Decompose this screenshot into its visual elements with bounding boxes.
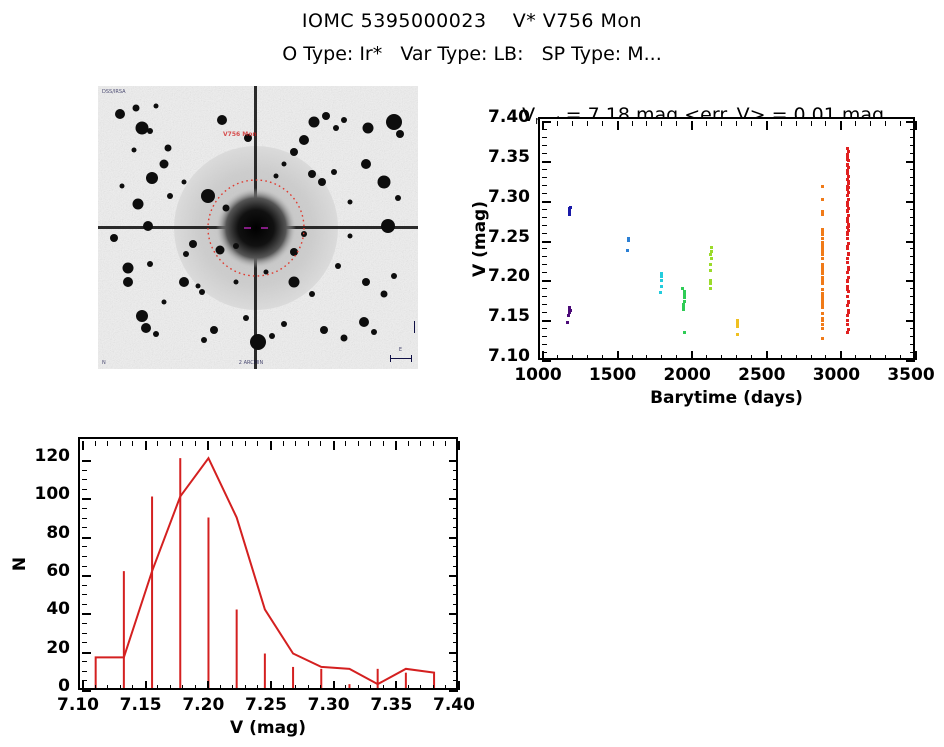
y-minor-tick-right [910,169,915,170]
x-minor-tick-top [308,441,309,446]
y-minor-tick-right [910,336,915,337]
data-point [709,263,712,266]
x-major-tick [333,681,335,690]
finder-chart: DSS/IRSA V756 Mon N 2 ARCMIN E [98,86,418,369]
x-minor-tick [157,685,158,690]
y-minor-tick [82,585,87,586]
finder-survey-label: DSS/IRSA [102,89,126,95]
x-tick-label: 1000 [514,365,561,385]
y-minor-tick [82,633,87,634]
data-point [567,314,570,317]
x-minor-tick [781,355,782,360]
x-minor-tick [557,355,558,360]
x-minor-tick [661,355,662,360]
y-major-tick [82,460,91,462]
x-minor-tick [751,355,752,360]
y-minor-tick-right [453,604,458,605]
x-minor-tick [195,685,196,690]
data-point [709,269,712,272]
x-major-tick [270,681,272,690]
x-minor-tick-top [95,441,96,446]
data-point [847,311,850,314]
data-point [846,319,849,322]
y-minor-tick-right [910,304,915,305]
y-minor-tick [542,153,547,154]
y-minor-tick [82,470,87,471]
histogram-y-axis-label: N [10,556,30,570]
y-minor-tick-right [453,470,458,471]
data-point [736,319,739,322]
x-tick-label: 7.30 [308,695,350,715]
data-point [846,304,849,307]
finder-star-label: V756 Mon [223,131,257,138]
y-minor-tick [542,193,547,194]
x-minor-tick-top [157,441,158,446]
data-point [846,331,849,334]
x-major-tick [458,681,460,690]
y-minor-tick [542,169,547,170]
data-point [710,250,713,253]
data-point [569,206,572,209]
x-tick-label: 7.15 [120,695,162,715]
x-minor-tick-top [107,441,108,446]
figure-page: IOMC 5395000023 V* V756 Mon O Type: Ir* … [0,0,944,747]
y-major-tick-right [449,460,458,462]
y-major-tick [82,575,91,577]
y-minor-tick-right [910,137,915,138]
y-minor-tick-right [453,527,458,528]
x-minor-tick [170,685,171,690]
y-minor-tick [82,489,87,490]
x-tick-label: 7.10 [57,695,99,715]
x-minor-tick-top [885,121,886,126]
data-point [659,291,662,294]
y-major-tick-right [906,241,915,243]
data-point [847,186,850,189]
finder-east-label: E [399,347,402,353]
x-minor-tick-top [602,121,603,126]
x-minor-tick [320,685,321,690]
y-minor-tick-right [910,129,915,130]
y-minor-tick-right [453,585,458,586]
data-point [709,279,712,282]
y-minor-tick-right [910,217,915,218]
y-minor-tick [542,344,547,345]
x-minor-tick [370,685,371,690]
y-major-tick-right [906,360,915,362]
y-major-tick-right [449,690,458,692]
y-major-tick-right [906,121,915,123]
y-minor-tick [82,518,87,519]
x-minor-tick-top [870,121,871,126]
x-minor-tick [825,355,826,360]
data-point [846,209,849,212]
x-minor-tick-top [420,441,421,446]
y-major-tick [542,280,551,282]
x-minor-tick [646,355,647,360]
lightcurve-plot [538,117,915,360]
data-point [846,231,849,234]
data-point [847,214,850,217]
y-minor-tick [542,185,547,186]
data-point [846,164,849,167]
y-minor-tick-right [453,633,458,634]
x-minor-tick-top [370,441,371,446]
x-minor-tick-top [345,441,346,446]
data-point [736,333,739,336]
x-minor-tick-top [811,121,812,126]
y-tick-label: 40 [46,599,70,619]
x-major-tick [207,681,209,690]
y-minor-tick-right [453,642,458,643]
y-major-tick [542,360,551,362]
y-minor-tick [82,527,87,528]
x-minor-tick [408,685,409,690]
data-point [821,279,824,282]
data-point [847,253,850,256]
y-minor-tick [82,680,87,681]
y-major-tick-right [449,652,458,654]
data-point [846,194,849,197]
x-tick-label: 7.35 [370,695,412,715]
data-point [683,300,686,303]
data-point [821,266,824,269]
y-major-tick [542,320,551,322]
histogram-x-axis-label: V (mag) [230,718,306,738]
y-minor-tick-right [453,680,458,681]
y-minor-tick-right [910,272,915,273]
x-minor-tick-top [721,121,722,126]
data-point [846,288,849,291]
data-point [846,257,849,260]
y-minor-tick [82,604,87,605]
y-minor-tick-right [453,546,458,547]
y-tick-label: 120 [35,446,71,466]
data-point [846,323,849,326]
data-point [821,185,824,188]
data-point [847,225,850,228]
x-minor-tick-top [383,441,384,446]
y-minor-tick [542,304,547,305]
y-major-tick-right [906,201,915,203]
finder-scalebar [390,358,412,359]
x-minor-tick [736,355,737,360]
data-point [846,172,849,175]
data-point [709,287,712,290]
data-point [847,198,850,201]
y-minor-tick-right [453,518,458,519]
y-tick-label: 7.30 [488,187,530,207]
x-minor-tick-top [232,441,233,446]
y-minor-tick-right [453,594,458,595]
data-point [821,327,824,330]
y-minor-tick [542,288,547,289]
finder-north-label: N [102,360,106,366]
data-point [821,257,824,260]
data-point [846,220,849,223]
y-major-tick-right [449,498,458,500]
data-point [847,191,850,194]
y-minor-tick-right [453,661,458,662]
data-point [821,337,824,340]
x-minor-tick-top [661,121,662,126]
y-minor-tick-right [910,248,915,249]
y-tick-label: 0 [58,676,70,696]
y-minor-tick-right [453,489,458,490]
x-major-tick-top [617,121,619,130]
figure-header: IOMC 5395000023 V* V756 Mon O Type: Ir* … [0,10,944,65]
data-point [660,285,663,288]
data-point [736,325,739,328]
y-tick-label: 100 [35,484,71,504]
data-point [847,175,850,178]
data-point [821,272,824,275]
y-major-tick [82,690,91,692]
data-point [683,290,686,293]
x-minor-tick-top [408,441,409,446]
y-minor-tick [82,546,87,547]
y-minor-tick [542,233,547,234]
x-minor-tick-top [796,121,797,126]
x-minor-tick-top [646,121,647,126]
x-major-tick [617,351,619,360]
y-minor-tick [542,225,547,226]
x-minor-tick [445,685,446,690]
data-point [846,271,849,274]
x-tick-label: 2500 [738,365,785,385]
y-minor-tick-right [910,153,915,154]
histogram-bars [80,439,456,688]
x-tick-label: 7.40 [433,695,475,715]
data-point [627,237,630,240]
y-tick-label: 7.10 [488,346,530,366]
x-minor-tick [245,685,246,690]
y-minor-tick [82,642,87,643]
x-minor-tick [132,685,133,690]
y-major-tick [82,537,91,539]
data-point [821,241,824,244]
x-tick-label: 7.20 [182,695,224,715]
y-minor-tick [82,623,87,624]
data-point [846,237,849,240]
data-point [821,323,824,326]
y-minor-tick-right [453,623,458,624]
x-minor-tick [632,355,633,360]
x-major-tick-top [82,441,84,450]
y-minor-tick [542,129,547,130]
data-point [660,272,663,275]
x-major-tick [840,351,842,360]
y-minor-tick [542,264,547,265]
data-point [683,296,686,299]
x-minor-tick-top [283,441,284,446]
y-minor-tick-right [910,233,915,234]
y-minor-tick [82,661,87,662]
x-minor-tick [107,685,108,690]
x-tick-label: 1500 [589,365,636,385]
data-point [846,153,849,156]
x-major-tick-top [840,121,842,130]
x-minor-tick-top [195,441,196,446]
x-minor-tick-top [320,441,321,446]
finder-north-tick [414,321,415,333]
y-minor-tick [82,671,87,672]
x-major-tick-top [395,441,397,450]
data-point [846,158,849,161]
x-major-tick [82,681,84,690]
data-point [846,217,849,220]
y-minor-tick [82,479,87,480]
data-point [846,202,849,205]
y-major-tick-right [906,161,915,163]
x-major-tick-top [458,441,460,450]
data-point [847,268,850,271]
y-minor-tick-right [910,145,915,146]
x-minor-tick [257,685,258,690]
y-minor-tick-right [910,185,915,186]
data-point [846,169,849,172]
x-minor-tick-top [295,441,296,446]
x-tick-label: 7.25 [245,695,287,715]
y-major-tick [542,121,551,123]
y-major-tick [542,161,551,163]
x-minor-tick [676,355,677,360]
y-tick-label: 7.15 [488,306,530,326]
data-point [709,253,712,256]
data-point [710,257,713,260]
y-minor-tick [542,336,547,337]
x-major-tick [766,351,768,360]
x-minor-tick-top [572,121,573,126]
x-major-tick-top [691,121,693,130]
y-major-tick [542,241,551,243]
data-point [566,321,569,324]
y-minor-tick-right [453,671,458,672]
y-major-tick-right [906,320,915,322]
x-minor-tick-top [751,121,752,126]
x-minor-tick-top [781,121,782,126]
y-minor-tick-right [910,256,915,257]
x-minor-tick-top [245,441,246,446]
lightcurve-x-axis-label: Barytime (days) [650,388,803,408]
y-major-tick [82,613,91,615]
data-point [821,210,824,213]
x-major-tick-top [207,441,209,450]
data-point [846,245,849,248]
data-point [821,304,824,307]
x-minor-tick [295,685,296,690]
x-major-tick-top [766,121,768,130]
x-minor-tick-top [182,441,183,446]
data-point [682,303,685,306]
data-point [683,331,686,334]
y-tick-label: 7.25 [488,227,530,247]
x-major-tick-top [270,441,272,450]
x-minor-tick-top [132,441,133,446]
y-minor-tick-right [910,352,915,353]
data-point [821,317,824,320]
x-minor-tick [721,355,722,360]
x-major-tick-top [915,121,917,130]
y-minor-tick [542,137,547,138]
y-minor-tick-right [910,344,915,345]
x-major-tick-top [145,441,147,450]
y-minor-tick [82,508,87,509]
x-minor-tick [95,685,96,690]
x-minor-tick-top [433,441,434,446]
data-point [821,292,824,295]
x-minor-tick-top [825,121,826,126]
y-minor-tick-right [453,556,458,557]
y-minor-tick [542,145,547,146]
x-tick-label: 2000 [664,365,711,385]
x-minor-tick [358,685,359,690]
finder-sky-image [98,86,418,369]
x-major-tick [395,681,397,690]
x-minor-tick [855,355,856,360]
finder-scale-label: 2 ARCMIN [239,360,263,366]
y-minor-tick-right [453,508,458,509]
x-minor-tick [572,355,573,360]
y-tick-label: 80 [46,523,70,543]
y-major-tick-right [449,575,458,577]
data-point [821,312,824,315]
x-minor-tick [345,685,346,690]
data-point [847,301,850,304]
x-minor-tick [283,685,284,690]
y-minor-tick [542,328,547,329]
y-minor-tick-right [453,566,458,567]
x-minor-tick [182,685,183,690]
x-minor-tick-top [706,121,707,126]
y-minor-tick [542,296,547,297]
data-point [846,147,849,150]
y-minor-tick [542,177,547,178]
x-minor-tick-top [900,121,901,126]
x-minor-tick [811,355,812,360]
x-minor-tick-top [587,121,588,126]
y-minor-tick [542,272,547,273]
x-minor-tick [885,355,886,360]
x-minor-tick [900,355,901,360]
y-minor-tick [82,556,87,557]
y-minor-tick-right [910,312,915,313]
y-minor-tick [542,209,547,210]
data-point [568,210,571,213]
data-point [736,322,739,325]
y-major-tick-right [906,280,915,282]
y-major-tick [542,201,551,203]
y-major-tick [82,652,91,654]
x-minor-tick-top [632,121,633,126]
x-major-tick [691,351,693,360]
y-minor-tick [542,217,547,218]
data-point [821,247,824,250]
x-minor-tick-top [445,441,446,446]
x-minor-tick [383,685,384,690]
x-tick-label: 3500 [887,365,934,385]
y-minor-tick [542,248,547,249]
data-point [660,279,663,282]
data-point [846,279,849,282]
y-minor-tick [82,594,87,595]
y-minor-tick-right [910,193,915,194]
x-minor-tick [120,685,121,690]
x-minor-tick [587,355,588,360]
y-minor-tick [542,256,547,257]
y-minor-tick-right [910,209,915,210]
y-minor-tick [542,312,547,313]
